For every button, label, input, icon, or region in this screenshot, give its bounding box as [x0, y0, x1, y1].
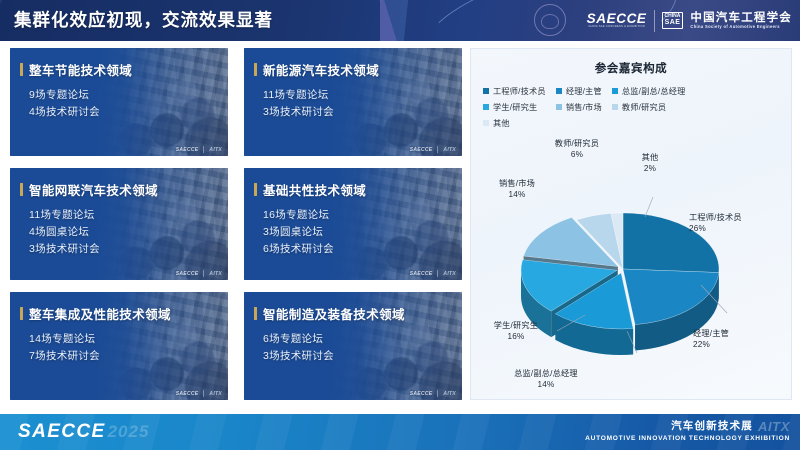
card-accent-bar-icon [20, 183, 23, 196]
card-watermark-saecce: SAECCE [410, 391, 433, 397]
card-title: 智能网联汽车技术领域 [29, 180, 158, 199]
card-title: 整车节能技术领域 [29, 60, 132, 79]
card-accent-bar-icon [254, 183, 257, 196]
card-item-list: 14场专题论坛7场技术研讨会 [20, 331, 228, 365]
csae-wordmark: 中国汽车工程学会 China Society of Automotive Eng… [690, 12, 792, 29]
card-title-row: 整车节能技术领域 [20, 60, 228, 79]
legend-label: 学生/研究生 [493, 101, 537, 113]
card-title-row: 整车集成及性能技术领域 [20, 304, 228, 323]
csae-name-en: China Society of Automotive Engineers [690, 24, 792, 29]
card-list-item: 3场圆桌论坛 [263, 224, 462, 241]
card-title: 智能制造及装备技术领域 [263, 304, 405, 323]
pie-chart: 工程师/技术员26%经理/主管22%总监/副总/总经理14%学生/研究生16%销… [471, 161, 792, 400]
legend-label: 教师/研究员 [622, 101, 666, 113]
domain-card: SAECCEAITX整车集成及性能技术领域14场专题论坛7场技术研讨会 [10, 292, 228, 400]
card-list-item: 3场技术研讨会 [29, 241, 228, 258]
pie-slice-label: 其他2% [621, 153, 679, 175]
technology-domain-card-grid: SAECCEAITX整车节能技术领域9场专题论坛4场技术研讨会SAECCEAIT… [10, 48, 465, 400]
card-title-row: 智能制造及装备技术领域 [254, 304, 462, 323]
pie-label-name: 总监/副总/总经理 [514, 369, 578, 378]
legend-swatch-icon [612, 104, 618, 110]
card-item-list: 11场专题论坛4场圆桌论坛3场技术研讨会 [20, 207, 228, 258]
saecce-logo-text: SAECCE [587, 12, 647, 26]
card-list-item: 3场技术研讨会 [263, 104, 462, 121]
legend-swatch-icon [483, 120, 489, 126]
header-globe-icon [534, 4, 566, 36]
legend-item: 教师/研究员 [612, 101, 686, 113]
footer-logo-text: SAECCE [18, 422, 106, 441]
legend-swatch-icon [556, 88, 562, 94]
domain-card: SAECCEAITX智能网联汽车技术领域11场专题论坛4场圆桌论坛3场技术研讨会 [10, 168, 228, 280]
card-photo-watermark: SAECCEAITX [410, 390, 456, 397]
card-list-item: 11场专题论坛 [263, 87, 462, 104]
pie-label-name: 其他 [642, 153, 659, 162]
legend-swatch-icon [612, 88, 618, 94]
pie-slice-label: 销售/市场14% [477, 179, 557, 201]
domain-card: SAECCEAITX新能源汽车技术领域11场专题论坛3场技术研讨会 [244, 48, 462, 156]
pie-slice-label: 学生/研究生16% [471, 321, 561, 343]
header-logo-group: SAECCE CHINA SAE CONGRESS & EXHIBITION C… [587, 0, 792, 41]
card-title: 新能源汽车技术领域 [263, 60, 379, 79]
card-watermark-saecce: SAECCE [410, 147, 433, 153]
card-accent-bar-icon [254, 63, 257, 76]
legend-label: 总监/副总/总经理 [622, 85, 686, 97]
card-watermark-aitx: AITX [443, 271, 456, 277]
card-title-row: 基础共性技术领域 [254, 180, 462, 199]
card-watermark-aitx: AITX [209, 147, 222, 153]
aitx-logo: AITX [758, 420, 790, 433]
csae-badge-icon: CHINA SAE [662, 12, 684, 30]
card-watermark-divider [203, 146, 204, 153]
card-list-item: 6场专题论坛 [263, 331, 462, 348]
card-accent-bar-icon [20, 307, 23, 320]
legend-label: 其他 [493, 117, 510, 129]
legend-swatch-icon [556, 104, 562, 110]
csae-badge-top: CHINA [665, 13, 681, 19]
pie-label-percent: 22% [693, 340, 792, 351]
pie-label-percent: 2% [621, 164, 679, 175]
card-title: 基础共性技术领域 [263, 180, 366, 199]
page-title: 集群化效应初现，交流效果显著 [14, 0, 273, 41]
pie-slice-label: 工程师/技术员26% [689, 213, 792, 235]
card-item-list: 9场专题论坛4场技术研讨会 [20, 87, 228, 121]
card-list-item: 4场技术研讨会 [29, 104, 228, 121]
card-watermark-divider [203, 270, 204, 277]
card-photo-watermark: SAECCEAITX [176, 390, 222, 397]
legend-label: 销售/市场 [566, 101, 602, 113]
legend-item: 经理/主管 [556, 85, 602, 97]
card-list-item: 7场技术研讨会 [29, 348, 228, 365]
domain-card: SAECCEAITX智能制造及装备技术领域6场专题论坛3场技术研讨会 [244, 292, 462, 400]
card-watermark-saecce: SAECCE [176, 147, 199, 153]
pie-label-percent: 26% [689, 224, 792, 235]
legend-item: 其他 [483, 117, 546, 129]
card-watermark-divider [203, 390, 204, 397]
card-list-item: 4场圆桌论坛 [29, 224, 228, 241]
card-watermark-aitx: AITX [209, 391, 222, 397]
card-accent-bar-icon [254, 307, 257, 320]
card-watermark-aitx: AITX [209, 271, 222, 277]
pie-slice-label: 教师/研究员6% [535, 139, 619, 161]
legend-label: 工程师/技术员 [493, 85, 546, 97]
legend-label: 经理/主管 [566, 85, 602, 97]
pie-slice-label: 经理/主管22% [693, 329, 792, 351]
header-logo-divider [654, 10, 655, 32]
card-watermark-saecce: SAECCE [410, 271, 433, 277]
saecce-logo: SAECCE CHINA SAE CONGRESS & EXHIBITION [587, 12, 647, 29]
card-watermark-saecce: SAECCE [176, 271, 199, 277]
card-list-item: 16场专题论坛 [263, 207, 462, 224]
card-accent-bar-icon [20, 63, 23, 76]
chart-legend: 工程师/技术员经理/主管总监/副总/总经理学生/研究生销售/市场教师/研究员其他 [483, 85, 781, 129]
footer-logo-year: 2025 [108, 423, 150, 440]
page-footer: SAECCE 2025 汽车创新技术展 AITX AUTOMOTIVE INNO… [0, 414, 800, 450]
legend-swatch-icon [483, 104, 489, 110]
legend-item: 工程师/技术员 [483, 85, 546, 97]
csae-badge-main: SAE [665, 19, 681, 27]
footer-exhibition-branding: 汽车创新技术展 AITX AUTOMOTIVE INNOVATION TECHN… [585, 420, 790, 442]
card-list-item: 11场专题论坛 [29, 207, 228, 224]
chart-title: 参会嘉宾构成 [471, 60, 791, 76]
legend-item: 销售/市场 [556, 101, 602, 113]
footer-saecce-logo: SAECCE 2025 [18, 422, 149, 441]
footer-exhibition-name-en: AUTOMOTIVE INNOVATION TECHNOLOGY EXHIBIT… [585, 435, 790, 442]
card-item-list: 11场专题论坛3场技术研讨会 [254, 87, 462, 121]
pie-label-name: 销售/市场 [499, 179, 535, 188]
card-watermark-aitx: AITX [443, 147, 456, 153]
pie-label-percent: 16% [471, 332, 561, 343]
pie-label-name: 教师/研究员 [555, 139, 599, 148]
card-watermark-aitx: AITX [443, 391, 456, 397]
card-photo-watermark: SAECCEAITX [176, 146, 222, 153]
pie-leader-line [645, 197, 653, 217]
legend-swatch-icon [483, 88, 489, 94]
domain-card: SAECCEAITX基础共性技术领域16场专题论坛3场圆桌论坛6场技术研讨会 [244, 168, 462, 280]
page-header: 集群化效应初现，交流效果显著 SAECCE CHINA SAE CONGRESS… [0, 0, 800, 41]
card-list-item: 9场专题论坛 [29, 87, 228, 104]
saecce-logo-subtext: CHINA SAE CONGRESS & EXHIBITION [588, 26, 645, 29]
pie-label-name: 学生/研究生 [494, 321, 538, 330]
pie-slice-label: 总监/副总/总经理14% [481, 369, 611, 391]
card-watermark-divider [437, 146, 438, 153]
card-item-list: 16场专题论坛3场圆桌论坛6场技术研讨会 [254, 207, 462, 258]
card-title-row: 智能网联汽车技术领域 [20, 180, 228, 199]
pie-label-percent: 14% [477, 190, 557, 201]
pie-label-name: 工程师/技术员 [689, 213, 742, 222]
card-list-item: 3场技术研讨会 [263, 348, 462, 365]
card-item-list: 6场专题论坛3场技术研讨会 [254, 331, 462, 365]
pie-label-percent: 6% [535, 150, 619, 161]
footer-exhibition-name-cn: 汽车创新技术展 [671, 421, 753, 433]
card-photo-watermark: SAECCEAITX [410, 270, 456, 277]
legend-item: 总监/副总/总经理 [612, 85, 686, 97]
card-title-row: 新能源汽车技术领域 [254, 60, 462, 79]
pie-label-percent: 14% [481, 380, 611, 391]
legend-item: 学生/研究生 [483, 101, 546, 113]
card-photo-watermark: SAECCEAITX [410, 146, 456, 153]
pie-label-name: 经理/主管 [693, 329, 729, 338]
card-watermark-divider [437, 390, 438, 397]
csae-name-cn: 中国汽车工程学会 [690, 12, 792, 24]
card-title: 整车集成及性能技术领域 [29, 304, 171, 323]
card-watermark-divider [437, 270, 438, 277]
card-watermark-saecce: SAECCE [176, 391, 199, 397]
card-list-item: 6场技术研讨会 [263, 241, 462, 258]
domain-card: SAECCEAITX整车节能技术领域9场专题论坛4场技术研讨会 [10, 48, 228, 156]
attendee-composition-panel: 参会嘉宾构成 工程师/技术员经理/主管总监/副总/总经理学生/研究生销售/市场教… [470, 48, 792, 400]
card-list-item: 14场专题论坛 [29, 331, 228, 348]
card-photo-watermark: SAECCEAITX [176, 270, 222, 277]
